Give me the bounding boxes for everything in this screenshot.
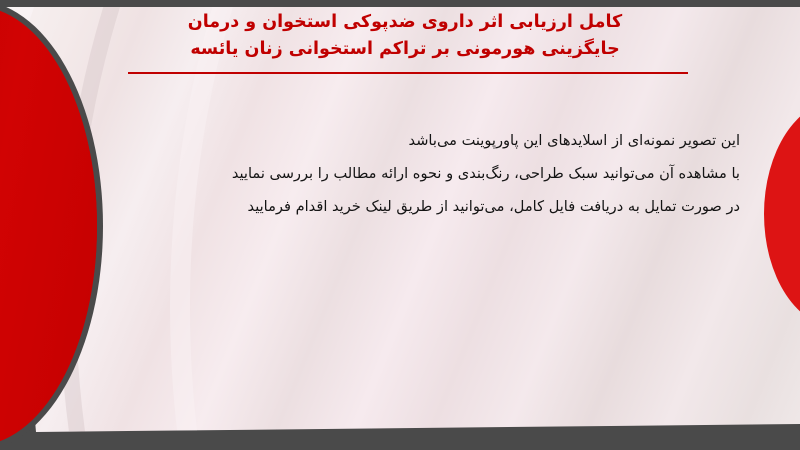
title-underline-rule: [128, 72, 688, 74]
slide-title-line-2: جایگزینی هورمونی بر تراکم استخوانی زنان …: [110, 36, 700, 63]
slide-title-line-1: کامل ارزیابی اثر داروی ضدپوکی استخوان و …: [110, 9, 700, 36]
body-text-line-1: این تصویر نمونه‌ای از اسلایدهای این پاور…: [60, 124, 740, 157]
slide-title: کامل ارزیابی اثر داروی ضدپوکی استخوان و …: [110, 9, 700, 63]
body-text-line-2: با مشاهده آن می‌توانید سبک طراحی، رنگ‌بن…: [60, 157, 740, 190]
body-text-line-3: در صورت تمایل به دریافت فایل کامل، می‌تو…: [60, 190, 740, 223]
presentation-slide: کامل ارزیابی اثر داروی ضدپوکی استخوان و …: [0, 0, 800, 450]
slide-body-text: این تصویر نمونه‌ای از اسلایدهای این پاور…: [60, 124, 740, 223]
